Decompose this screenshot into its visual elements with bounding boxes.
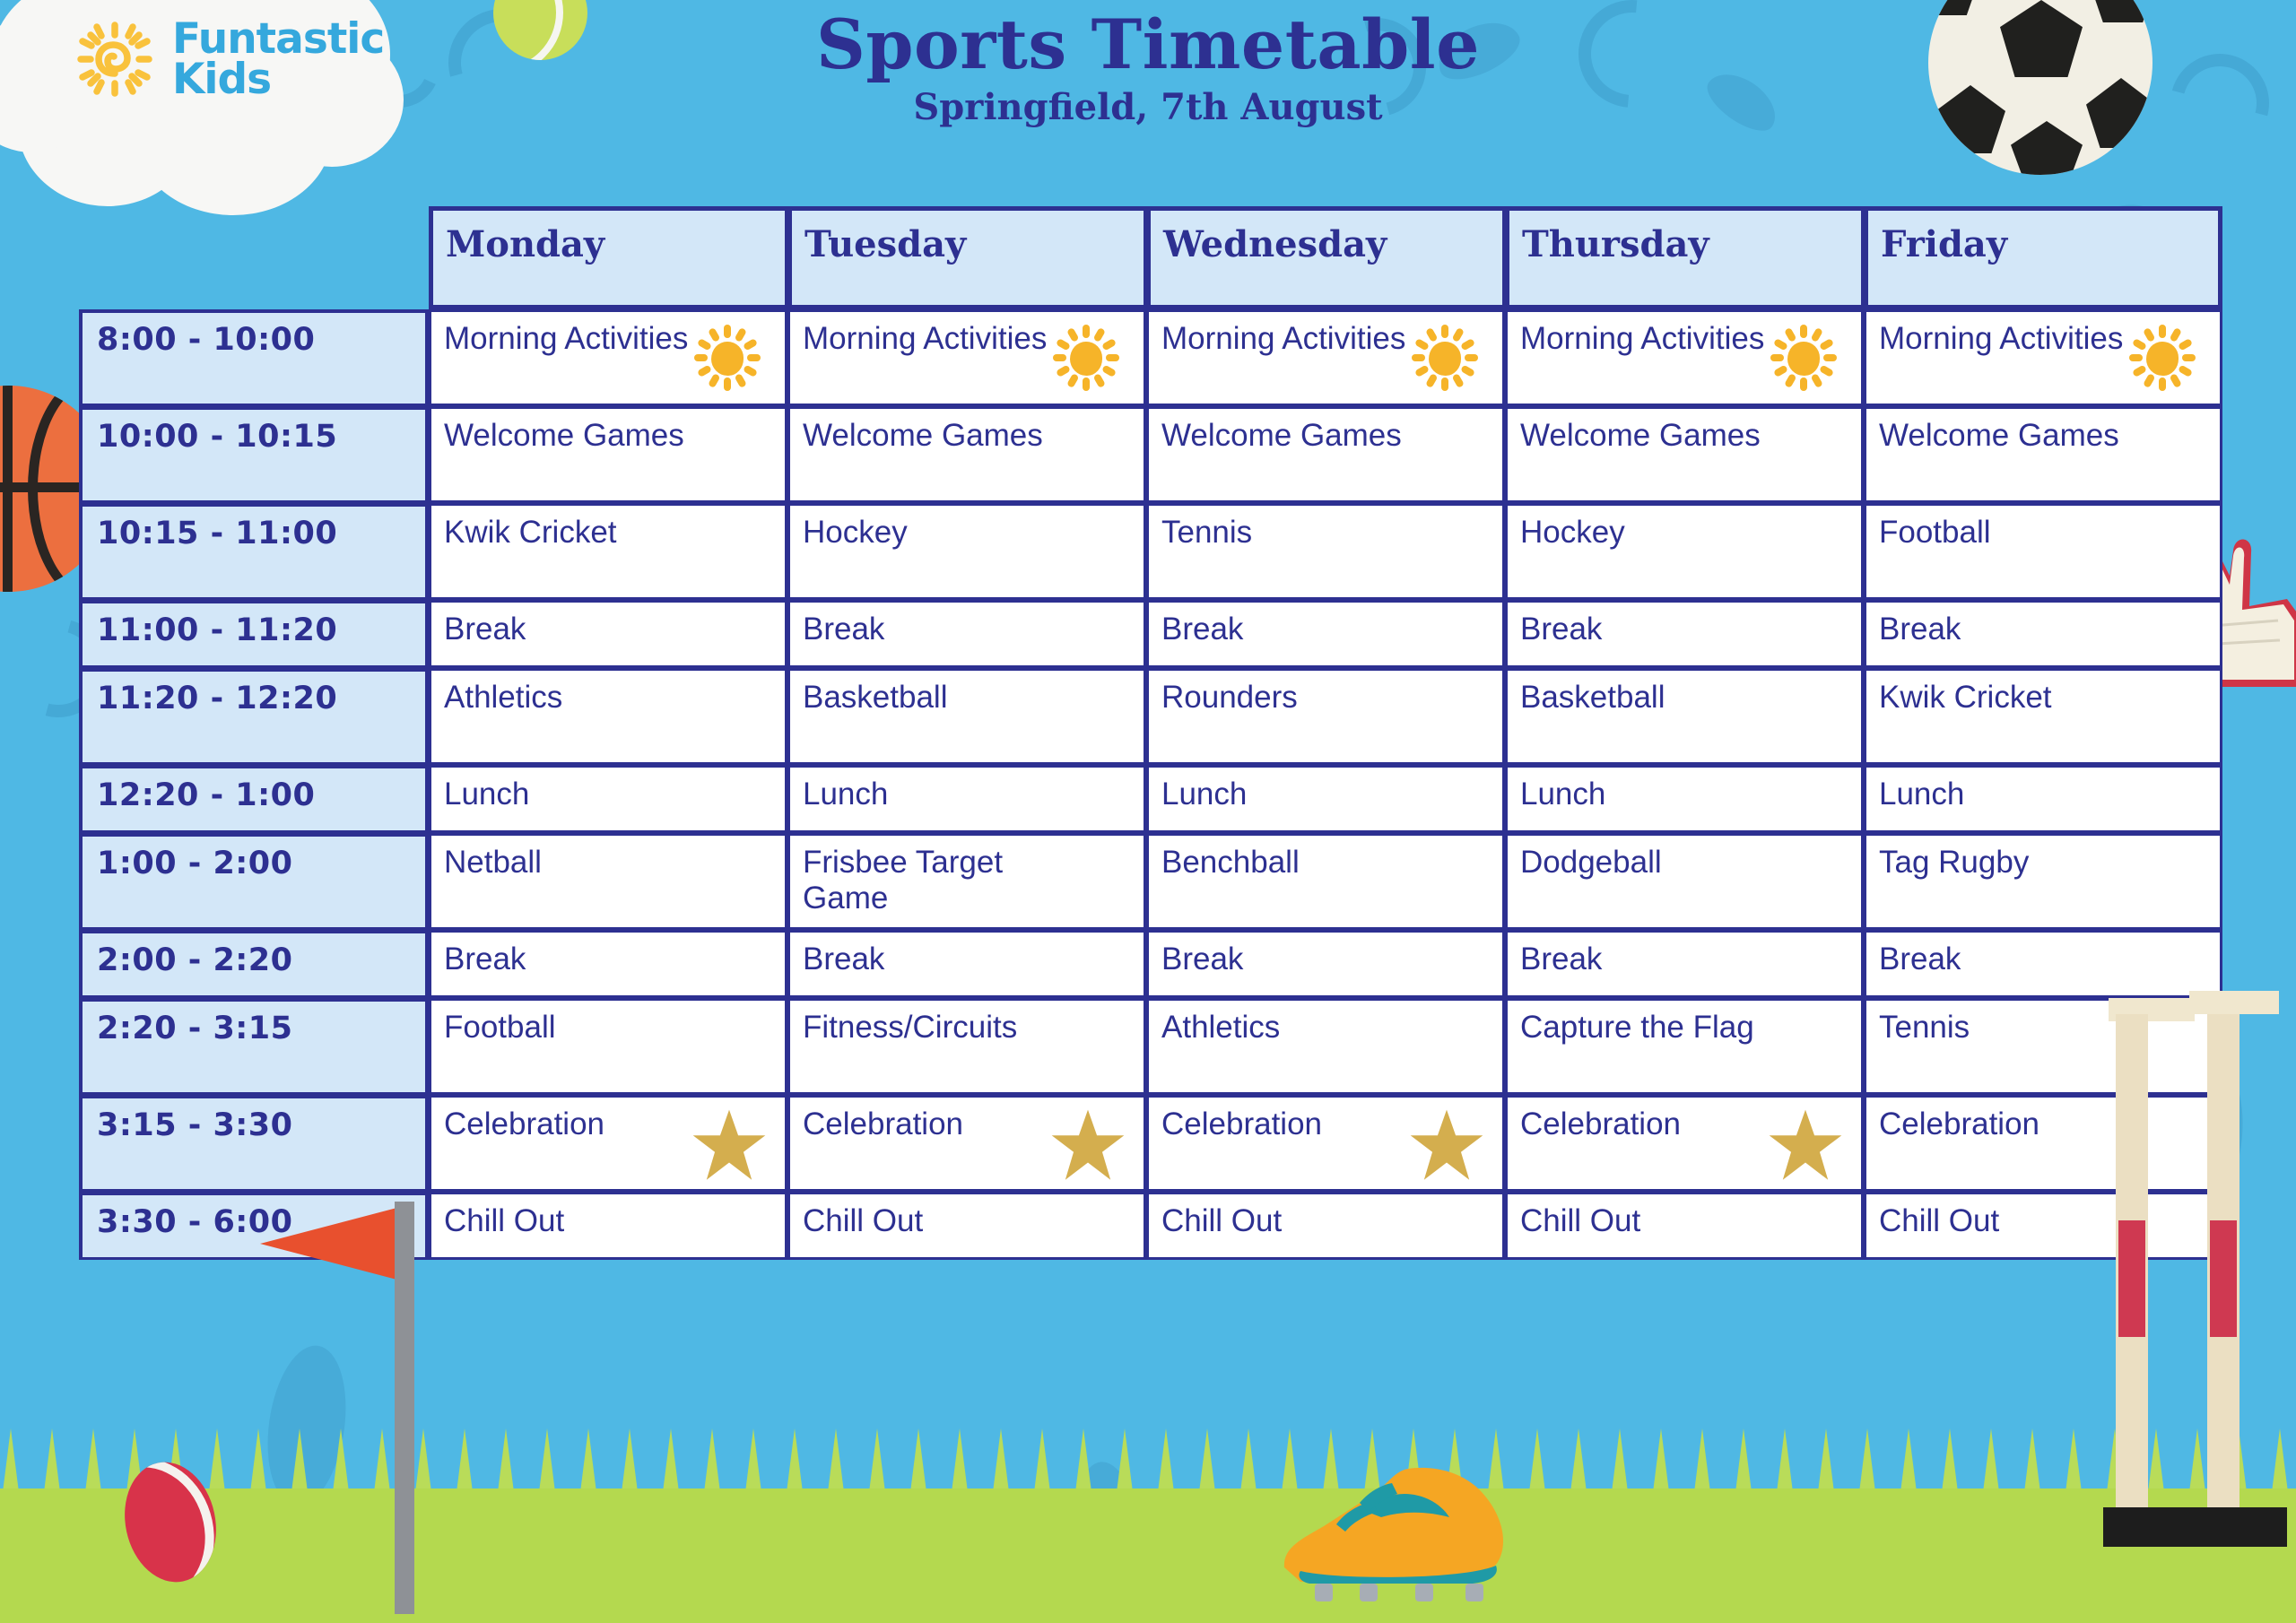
activity-cell[interactable]: Hockey xyxy=(1505,503,1864,600)
activity-label: Break xyxy=(1161,612,1490,647)
timetable-row: 2:20 - 3:15FootballFitness/CircuitsAthle… xyxy=(79,998,2222,1095)
activity-label: Break xyxy=(803,942,1131,977)
activity-cell[interactable]: Break xyxy=(1505,930,1864,998)
activity-cell[interactable]: Morning Activities xyxy=(1505,309,1864,406)
activity-label: Hockey xyxy=(1520,515,1848,551)
activity-label: Kwik Cricket xyxy=(444,515,772,551)
activity-label: Break xyxy=(1879,612,2207,647)
activity-label: Athletics xyxy=(444,680,772,716)
activity-cell[interactable]: Welcome Games xyxy=(1505,406,1864,503)
time-slot-label: 2:20 - 3:15 xyxy=(79,998,429,1095)
activity-cell[interactable]: Welcome Games xyxy=(429,406,787,503)
time-slot-label: 11:00 - 11:20 xyxy=(79,600,429,668)
activity-label: Welcome Games xyxy=(803,418,1131,454)
activity-cell[interactable]: Celebration xyxy=(787,1095,1146,1192)
sun-spiral-icon xyxy=(72,16,158,102)
activity-label: Lunch xyxy=(1161,777,1490,812)
timetable: MondayTuesdayWednesdayThursdayFriday 8:0… xyxy=(79,206,2222,1260)
activity-cell[interactable]: Basketball xyxy=(1505,668,1864,765)
activity-label: Basketball xyxy=(803,680,1131,716)
activity-cell[interactable]: Welcome Games xyxy=(1146,406,1505,503)
activity-label: Benchball xyxy=(1161,845,1490,881)
activity-cell[interactable]: Welcome Games xyxy=(787,406,1146,503)
activity-label: Dodgeball xyxy=(1520,845,1848,881)
sun-icon xyxy=(1409,323,1479,393)
star-icon xyxy=(1768,1108,1838,1178)
activity-label: Basketball xyxy=(1520,680,1848,716)
timetable-header-row: MondayTuesdayWednesdayThursdayFriday xyxy=(79,206,2222,309)
activity-cell[interactable]: Tennis xyxy=(1146,503,1505,600)
activity-label: Break xyxy=(803,612,1131,647)
activity-cell[interactable]: Break xyxy=(1146,930,1505,998)
activity-cell[interactable]: Break xyxy=(1146,600,1505,668)
time-slot-label: 8:00 - 10:00 xyxy=(79,309,429,406)
activity-label: Welcome Games xyxy=(1161,418,1490,454)
activity-label: Break xyxy=(444,612,772,647)
activity-label: Chill Out xyxy=(803,1203,1131,1239)
activity-label: Break xyxy=(1161,942,1490,977)
timetable-row: 11:20 - 12:20AthleticsBasketballRounders… xyxy=(79,668,2222,765)
activity-label: Chill Out xyxy=(1520,1203,1848,1239)
activity-cell[interactable]: Lunch xyxy=(787,765,1146,833)
activity-cell[interactable]: Celebration xyxy=(1505,1095,1864,1192)
activity-cell[interactable]: Athletics xyxy=(429,668,787,765)
star-icon xyxy=(691,1108,761,1178)
activity-cell[interactable]: Chill Out xyxy=(1146,1192,1505,1260)
time-slot-label: 3:15 - 3:30 xyxy=(79,1095,429,1192)
timetable-body: 8:00 - 10:00Morning ActivitiesMorning Ac… xyxy=(79,309,2222,1260)
activity-label: Welcome Games xyxy=(444,418,772,454)
sun-icon xyxy=(691,323,761,393)
activity-cell[interactable]: Frisbee Target Game xyxy=(787,833,1146,930)
day-header-monday: Monday xyxy=(429,206,787,309)
activity-cell[interactable]: Fitness/Circuits xyxy=(787,998,1146,1095)
activity-cell[interactable]: Break xyxy=(429,600,787,668)
activity-cell[interactable]: Lunch xyxy=(1864,765,2222,833)
day-header-tuesday: Tuesday xyxy=(787,206,1146,309)
brand-logo[interactable]: Funtastic Kids xyxy=(0,0,430,215)
activity-label: Hockey xyxy=(803,515,1131,551)
activity-label: Chill Out xyxy=(444,1203,772,1239)
timetable-row: 10:00 - 10:15Welcome GamesWelcome GamesW… xyxy=(79,406,2222,503)
activity-cell[interactable]: Morning Activities xyxy=(787,309,1146,406)
time-slot-label: 2:00 - 2:20 xyxy=(79,930,429,998)
brand-logo-line2: Kids xyxy=(172,59,384,100)
cricket-stumps-icon xyxy=(2103,991,2287,1547)
time-slot-label: 10:00 - 10:15 xyxy=(79,406,429,503)
activity-cell[interactable]: Morning Activities xyxy=(1146,309,1505,406)
activity-cell[interactable]: Rounders xyxy=(1146,668,1505,765)
activity-label: Fitness/Circuits xyxy=(803,1010,1131,1046)
activity-cell[interactable]: Break xyxy=(1864,600,2222,668)
activity-cell[interactable]: Dodgeball xyxy=(1505,833,1864,930)
timetable-row: 1:00 - 2:00NetballFrisbee Target GameBen… xyxy=(79,833,2222,930)
activity-cell[interactable]: Celebration xyxy=(1146,1095,1505,1192)
time-column-header xyxy=(79,206,429,309)
timetable-row: 3:15 - 3:30CelebrationCelebrationCelebra… xyxy=(79,1095,2222,1192)
activity-cell[interactable]: Kwik Cricket xyxy=(1864,668,2222,765)
activity-label: Break xyxy=(1520,942,1848,977)
time-slot-label: 10:15 - 11:00 xyxy=(79,503,429,600)
time-slot-label: 12:20 - 1:00 xyxy=(79,765,429,833)
brand-logo-line1: Funtastic xyxy=(172,19,384,59)
activity-label: Frisbee Target Game xyxy=(803,845,1131,917)
sun-icon xyxy=(2126,323,2196,393)
activity-label: Kwik Cricket xyxy=(1879,680,2207,716)
activity-label: Athletics xyxy=(1161,1010,1490,1046)
activity-label: Welcome Games xyxy=(1879,418,2207,454)
activity-label: Break xyxy=(1879,942,2207,977)
activity-label: Netball xyxy=(444,845,772,881)
activity-cell[interactable]: Chill Out xyxy=(787,1192,1146,1260)
activity-label: Tag Rugby xyxy=(1879,845,2207,881)
corner-flag-icon xyxy=(260,1206,404,1281)
activity-cell[interactable]: Break xyxy=(787,600,1146,668)
activity-cell[interactable]: Break xyxy=(1505,600,1864,668)
star-icon xyxy=(1050,1108,1120,1178)
football-boot-icon xyxy=(1274,1462,1543,1605)
activity-cell[interactable]: Morning Activities xyxy=(429,309,787,406)
activity-cell[interactable]: Capture the Flag xyxy=(1505,998,1864,1095)
activity-cell[interactable]: Chill Out xyxy=(429,1192,787,1260)
star-icon xyxy=(1409,1108,1479,1178)
activity-label: Lunch xyxy=(1520,777,1848,812)
activity-cell[interactable]: Morning Activities xyxy=(1864,309,2222,406)
activity-cell[interactable]: Football xyxy=(429,998,787,1095)
corner-flag-pole xyxy=(395,1202,414,1614)
activity-label: Football xyxy=(444,1010,772,1046)
day-header-wednesday: Wednesday xyxy=(1146,206,1505,309)
sun-icon xyxy=(1050,323,1120,393)
timetable-row: 10:15 - 11:00Kwik CricketHockeyTennisHoc… xyxy=(79,503,2222,600)
activity-cell[interactable]: Benchball xyxy=(1146,833,1505,930)
activity-cell[interactable]: Lunch xyxy=(429,765,787,833)
sports-timetable-poster: Funtastic Kids Sports Timetable Springfi… xyxy=(0,0,2296,1623)
timetable-row: 2:00 - 2:20BreakBreakBreakBreakBreak xyxy=(79,930,2222,998)
day-header-thursday: Thursday xyxy=(1505,206,1864,309)
activity-cell[interactable]: Football xyxy=(1864,503,2222,600)
activity-cell[interactable]: Hockey xyxy=(787,503,1146,600)
activity-cell[interactable]: Welcome Games xyxy=(1864,406,2222,503)
timetable-row: 8:00 - 10:00Morning ActivitiesMorning Ac… xyxy=(79,309,2222,406)
activity-cell[interactable]: Netball xyxy=(429,833,787,930)
activity-label: Lunch xyxy=(444,777,772,812)
activity-label: Capture the Flag xyxy=(1520,1010,1848,1046)
activity-label: Lunch xyxy=(803,777,1131,812)
activity-cell[interactable]: Chill Out xyxy=(1505,1192,1864,1260)
activity-cell[interactable]: Athletics xyxy=(1146,998,1505,1095)
activity-label: Chill Out xyxy=(1161,1203,1490,1239)
activity-cell[interactable]: Lunch xyxy=(1505,765,1864,833)
activity-cell[interactable]: Break xyxy=(1864,930,2222,998)
activity-cell[interactable]: Break xyxy=(429,930,787,998)
activity-cell[interactable]: Break xyxy=(787,930,1146,998)
activity-cell[interactable]: Lunch xyxy=(1146,765,1505,833)
activity-label: Welcome Games xyxy=(1520,418,1848,454)
timetable-row: 11:00 - 11:20BreakBreakBreakBreakBreak xyxy=(79,600,2222,668)
activity-cell[interactable]: Celebration xyxy=(429,1095,787,1192)
activity-label: Football xyxy=(1879,515,2207,551)
activity-label: Rounders xyxy=(1161,680,1490,716)
activity-label: Break xyxy=(1520,612,1848,647)
activity-cell[interactable]: Tag Rugby xyxy=(1864,833,2222,930)
activity-label: Lunch xyxy=(1879,777,2207,812)
grass-strip xyxy=(0,1488,2296,1623)
activity-cell[interactable]: Kwik Cricket xyxy=(429,503,787,600)
time-slot-label: 11:20 - 12:20 xyxy=(79,668,429,765)
activity-label: Break xyxy=(444,942,772,977)
timetable-row: 12:20 - 1:00LunchLunchLunchLunchLunch xyxy=(79,765,2222,833)
sun-icon xyxy=(1768,323,1838,393)
time-slot-label: 1:00 - 2:00 xyxy=(79,833,429,930)
day-header-friday: Friday xyxy=(1864,206,2222,309)
activity-label: Tennis xyxy=(1161,515,1490,551)
activity-cell[interactable]: Basketball xyxy=(787,668,1146,765)
